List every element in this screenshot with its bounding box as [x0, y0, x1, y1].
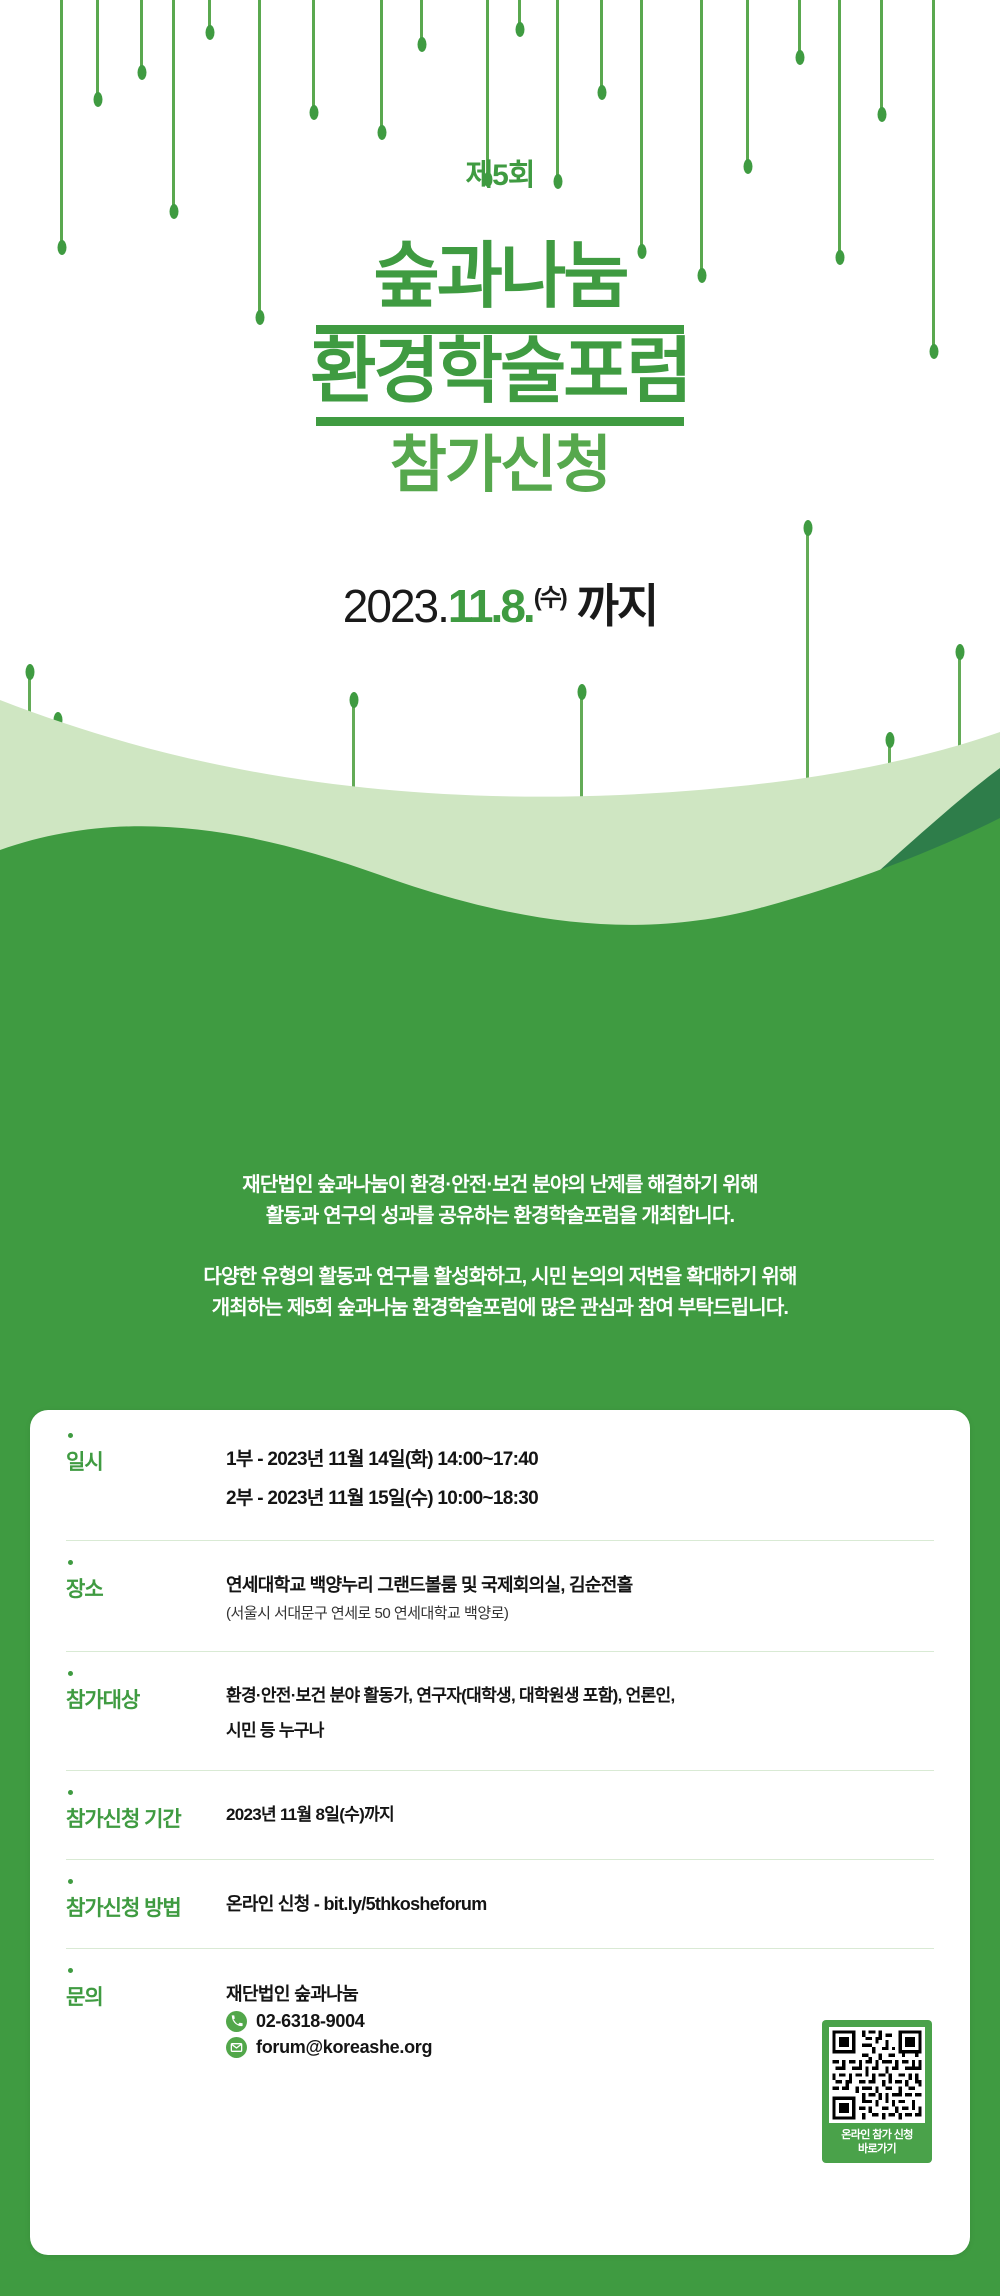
hanging-line — [312, 0, 315, 113]
droplet-icon — [877, 107, 886, 122]
hanging-line — [140, 0, 143, 73]
audience-line2: 시민 등 누구나 — [226, 1718, 970, 1744]
datetime-part2: 2부 - 2023년 11월 15일(수) 10:00~18:30 — [226, 1484, 970, 1513]
eyebrow-edition: 제5회 — [0, 150, 1000, 194]
info-row-period: 참가신청 기간 2023년 11월 8일(수)까지 — [30, 1771, 970, 1859]
hanging-line — [208, 0, 211, 33]
page-title-line1: 숲과나눔 — [0, 240, 1000, 316]
intro-para1-line2: 활동과 연구의 성과를 공유하는 환경학술포럼을 개최합니다. — [0, 1201, 1000, 1232]
deadline-banner: 2023.11.8.(수) 까지 — [0, 570, 1000, 636]
hanging-line — [518, 0, 521, 30]
qr-caption: 온라인 참가 신청 바로가기 — [829, 2128, 925, 2157]
page-title-line2: 환경학술포럼 — [0, 335, 1000, 411]
info-label-datetime: 일시 — [66, 1444, 226, 1476]
paragraph-gap — [0, 1232, 1000, 1262]
info-label-venue: 장소 — [66, 1571, 226, 1603]
info-value-datetime: 1부 - 2023년 11월 14일(화) 14:00~17:40 2부 - 2… — [226, 1444, 970, 1514]
intro-para2-line2: 개최하는 제5회 숲과나눔 환경학술포럼에 많은 관심과 참여 부탁드립니다. — [0, 1293, 1000, 1324]
hanging-line — [700, 0, 703, 276]
qr-code-icon — [829, 2027, 925, 2123]
period-value: 2023년 11월 8일(수)까지 — [226, 1802, 970, 1828]
intro-para1-line1: 재단법인 숲과나눔이 환경·안전·보건 분야의 난제를 해결하기 위해 — [0, 1170, 1000, 1201]
info-row-venue: 장소 연세대학교 백양누리 그랜드볼룸 및 국제회의실, 김순전홀 (서울시 서… — [30, 1541, 970, 1651]
droplet-icon — [795, 50, 804, 65]
qr-caption-line2: 바로가기 — [829, 2142, 925, 2156]
hanging-line — [60, 0, 63, 248]
droplet-icon — [417, 37, 426, 52]
droplet-icon — [205, 25, 214, 40]
title-rule-bottom — [316, 417, 684, 426]
hanging-line — [600, 0, 603, 93]
hanging-line — [746, 0, 749, 167]
contact-phone: 02-6318-9004 — [256, 2011, 365, 2032]
page-title-line3: 참가신청 — [0, 432, 1000, 500]
droplet-icon — [597, 85, 606, 100]
info-label-method: 참가신청 방법 — [66, 1890, 226, 1922]
hanging-line — [96, 0, 99, 100]
info-value-period: 2023년 11월 8일(수)까지 — [226, 1801, 970, 1828]
hanging-line — [640, 0, 643, 252]
venue-address: (서울시 서대문구 연세로 50 연세대학교 백양로) — [226, 1603, 970, 1626]
venue-name: 연세대학교 백양누리 그랜드볼룸 및 국제회의실, 김순전홀 — [226, 1572, 970, 1600]
info-value-venue: 연세대학교 백양누리 그랜드볼룸 및 국제회의실, 김순전홀 (서울시 서대문구… — [226, 1571, 970, 1625]
envelope-icon — [226, 2037, 247, 2058]
droplet-icon — [309, 105, 318, 120]
info-row-datetime: 일시 1부 - 2023년 11월 14일(화) 14:00~17:40 2부 … — [30, 1410, 970, 1540]
droplet-icon — [93, 92, 102, 107]
deadline-dot: . — [523, 580, 534, 632]
contact-organization: 재단법인 숲과나눔 — [226, 1980, 970, 2006]
method-link[interactable]: 온라인 신청 - bit.ly/5thkosheforum — [226, 1891, 970, 1919]
info-card: 일시 1부 - 2023년 11월 14일(화) 14:00~17:40 2부 … — [30, 1410, 970, 2255]
contact-email: forum@koreashe.org — [256, 2037, 432, 2058]
droplet-icon — [377, 125, 386, 140]
intro-para2-line1: 다양한 유형의 활동과 연구를 활성화하고, 시민 논의의 저변을 확대하기 위… — [0, 1262, 1000, 1293]
hanging-line — [838, 0, 841, 258]
bud-icon — [803, 520, 812, 536]
info-label-audience: 참가대상 — [66, 1682, 226, 1714]
datetime-part1: 1부 - 2023년 11월 14일(화) 14:00~17:40 — [226, 1445, 970, 1474]
info-row-audience: 참가대상 환경·안전·보건 분야 활동가, 연구자(대학생, 대학원생 포함),… — [30, 1652, 970, 1770]
qr-code-block[interactable]: 온라인 참가 신청 바로가기 — [822, 2020, 932, 2163]
audience-line1: 환경·안전·보건 분야 활동가, 연구자(대학생, 대학원생 포함), 언론인, — [226, 1683, 970, 1709]
deadline-weekday: (수) — [534, 585, 566, 612]
info-value-method: 온라인 신청 - bit.ly/5thkosheforum — [226, 1890, 970, 1919]
info-label-period: 참가신청 기간 — [66, 1801, 226, 1833]
info-value-audience: 환경·안전·보건 분야 활동가, 연구자(대학생, 대학원생 포함), 언론인,… — [226, 1682, 970, 1744]
deadline-suffix: 까지 — [577, 580, 658, 632]
hanging-line — [798, 0, 801, 58]
info-label-contact: 문의 — [66, 1979, 226, 2011]
phone-icon — [226, 2011, 247, 2032]
poster-root: 제5회 숲과나눔 환경학술포럼 참가신청 2023.11.8.(수) 까지 재단… — [0, 0, 1000, 2296]
hanging-line — [880, 0, 883, 115]
deadline-month-day: 11.8 — [448, 580, 523, 632]
deadline-year: 2023. — [343, 580, 448, 632]
info-row-method: 참가신청 방법 온라인 신청 - bit.ly/5thkosheforum — [30, 1860, 970, 1948]
qr-caption-line1: 온라인 참가 신청 — [829, 2128, 925, 2142]
droplet-icon — [137, 65, 146, 80]
hanging-line — [420, 0, 423, 45]
droplet-icon — [515, 22, 524, 37]
hanging-line — [380, 0, 383, 133]
droplet-icon — [169, 204, 178, 219]
intro-text-block: 재단법인 숲과나눔이 환경·안전·보건 분야의 난제를 해결하기 위해 활동과 … — [0, 1170, 1000, 1324]
